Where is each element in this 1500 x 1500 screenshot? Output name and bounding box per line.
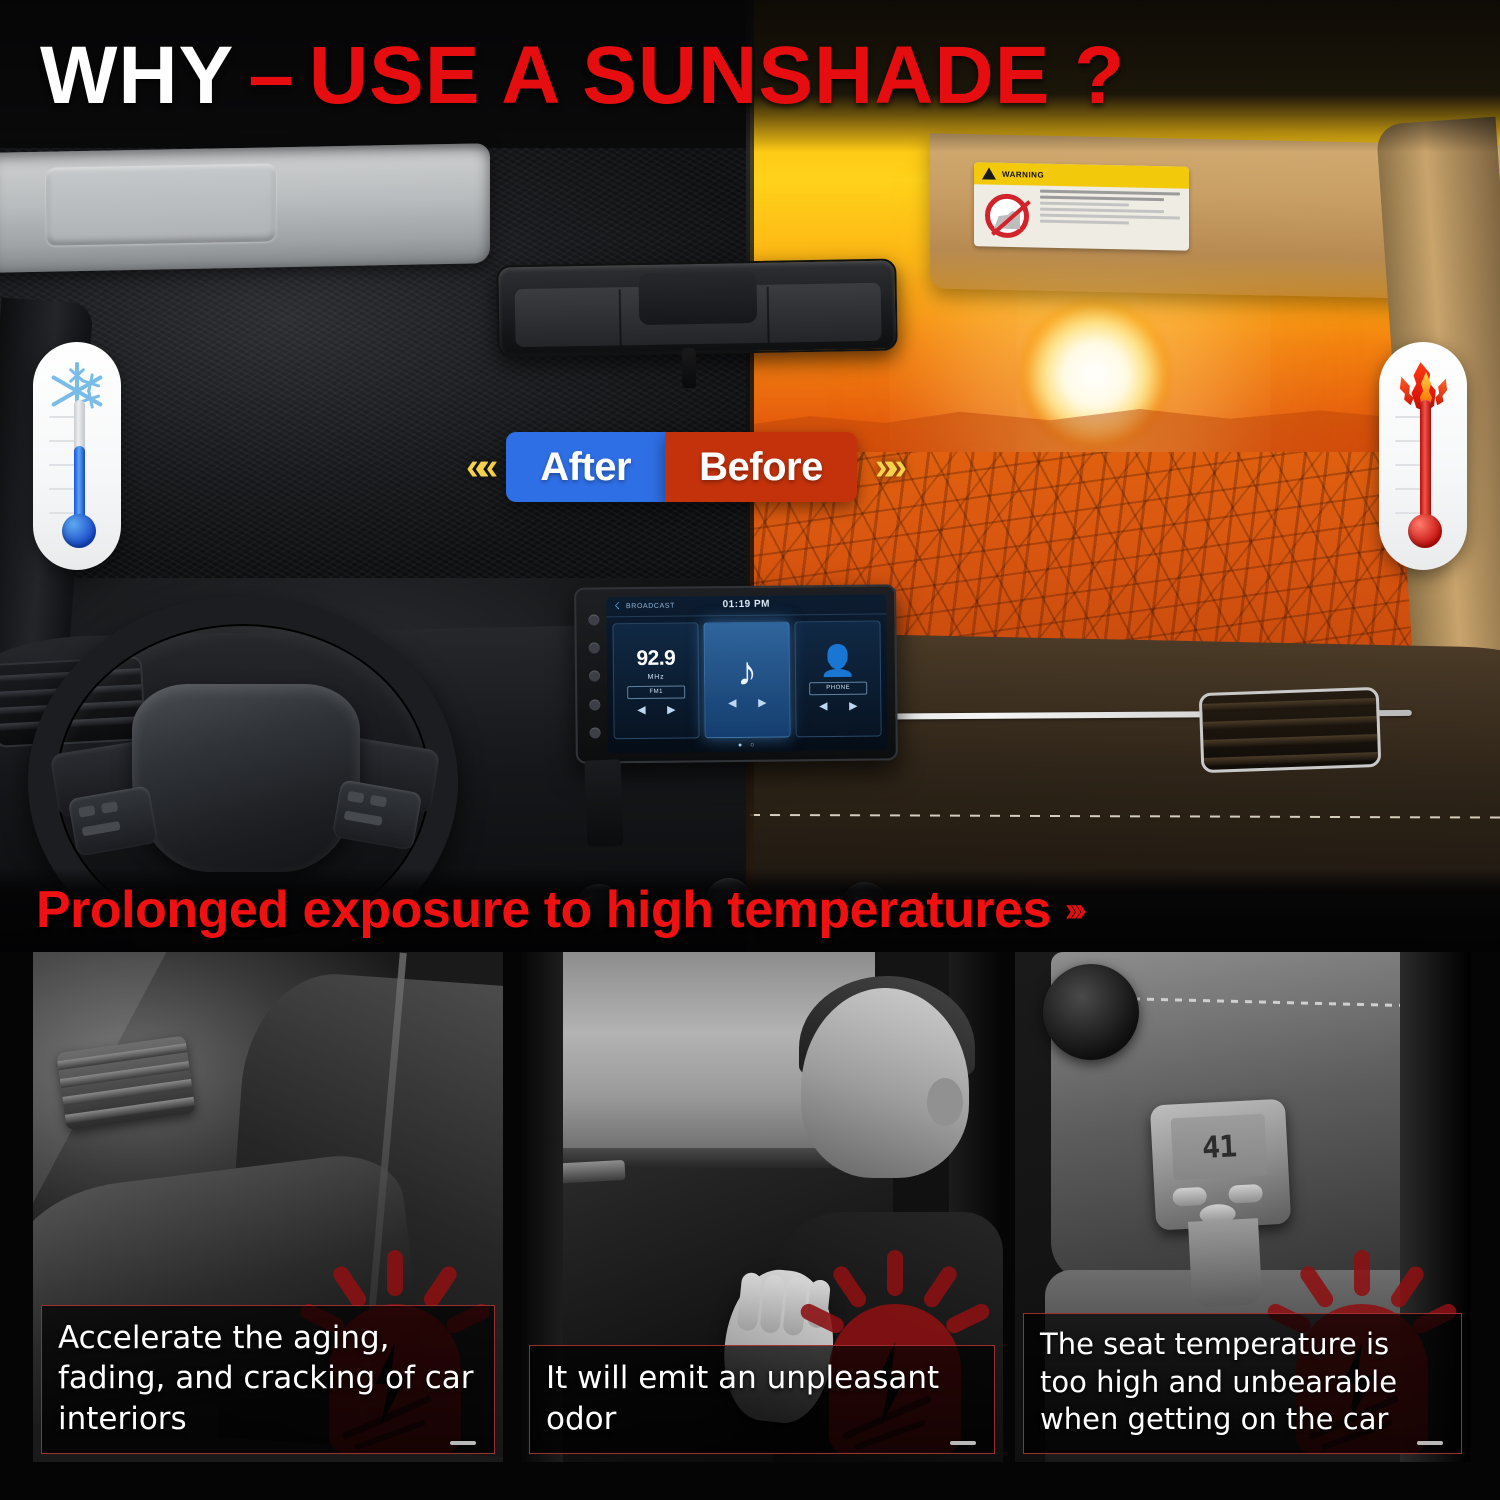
card-seat-temperature: 41 The seat temperature is [1015, 952, 1470, 1462]
after-badge[interactable]: After [506, 432, 665, 502]
visor-clip-icon [56, 173, 72, 237]
card-unpleasant-odor: It will emit an unpleasant odor [521, 952, 1003, 1462]
person-icon: 👤 [819, 646, 857, 676]
warning-label-body [974, 184, 1189, 251]
caption-underscore [1417, 1441, 1443, 1445]
media-tile[interactable]: ♪ ◀ ▶ [703, 621, 790, 738]
card-caption-text: The seat temperature is too high and unb… [1040, 1326, 1445, 1439]
card-caption: Accelerate the aging, fading, and cracki… [41, 1305, 495, 1454]
thermometer-gun-body: 41 [1150, 1099, 1291, 1231]
radio-arrows[interactable]: ◀ ▶ [638, 704, 676, 715]
head-unit-mounting-bracket [585, 759, 624, 846]
infrared-thermometer-gun: 41 [1150, 1099, 1295, 1306]
card-caption-text: Accelerate the aging, fading, and cracki… [58, 1318, 478, 1439]
thermometer-buttons[interactable] [1172, 1183, 1274, 1222]
radio-preset[interactable]: FM1 [627, 685, 685, 699]
rearview-mirror [496, 259, 898, 358]
power-button-icon[interactable] [588, 614, 599, 625]
warning-label-text-lines [1040, 186, 1189, 251]
prolonged-exposure-banner: Prolonged exposure to high temperatures … [0, 868, 1500, 952]
title-red-phrase: USE A SUNSHADE ? [309, 30, 1125, 121]
warning-pictogram [974, 184, 1040, 247]
caption-underscore [450, 1441, 476, 1445]
screen-tiles: 92.9 MHz FM1 ◀ ▶ ♪ ◀ ▶ [606, 614, 887, 745]
wristwatch [1043, 964, 1139, 1060]
airbag-hub [132, 684, 360, 872]
eject-button-icon[interactable] [589, 728, 600, 739]
page-title: WHY–USE A SUNSHADE ? [40, 35, 1125, 117]
title-dash: – [234, 30, 309, 121]
thermometer-reading: 41 [1201, 1129, 1237, 1166]
mirror-stem [682, 348, 697, 388]
air-vent-right [1199, 687, 1382, 773]
sun-visor-left [0, 143, 490, 273]
hot-thermometer [1379, 342, 1467, 570]
head-unit-side-buttons[interactable] [584, 605, 603, 747]
media-prev-icon[interactable]: ◀ [729, 697, 737, 708]
visor-warning-label: WARNING [974, 162, 1189, 251]
radio-tile[interactable]: 92.9 MHz FM1 ◀ ▶ [612, 622, 699, 739]
rear-headrest [638, 271, 757, 325]
media-next-icon[interactable]: ▶ [758, 697, 766, 708]
music-note-icon: ♪ [737, 651, 757, 691]
thermometer-grip [1188, 1218, 1262, 1308]
dashboard-stitching [750, 814, 1500, 819]
menu-button-icon[interactable] [589, 699, 600, 710]
radio-next-icon[interactable]: ▶ [667, 704, 675, 715]
sunshade-infographic-poster: WARNING [0, 0, 1500, 1500]
thermometer-lcd-display: 41 [1171, 1114, 1268, 1181]
thermometer-fill-hot [1420, 400, 1431, 524]
cold-thermometer [33, 342, 121, 570]
left-chevrons-icon: «« [466, 448, 496, 486]
title-white-word: WHY [40, 30, 234, 121]
warning-heading: WARNING [1002, 169, 1044, 179]
radio-prev-icon[interactable]: ◀ [638, 704, 646, 715]
no-child-seat-icon [985, 193, 1029, 238]
volume-button-icon[interactable] [588, 671, 599, 682]
warning-triangle-icon [982, 167, 996, 179]
before-badge[interactable]: Before [665, 432, 857, 502]
radio-frequency: 92.9 [636, 646, 675, 670]
radio-band: MHz [648, 673, 665, 680]
caption-underscore [950, 1441, 976, 1445]
right-chevrons-icon: »» [867, 448, 897, 486]
card-caption: The seat temperature is too high and unb… [1023, 1313, 1462, 1454]
thermometer-bulb-cold [62, 514, 96, 548]
media-arrows[interactable]: ◀ ▶ [729, 697, 767, 708]
home-button-icon[interactable] [588, 643, 599, 654]
card-caption-text: It will emit an unpleasant odor [546, 1358, 978, 1439]
man-ear [927, 1078, 963, 1126]
poster-title-bar: WHY–USE A SUNSHADE ? [0, 0, 1500, 152]
phone-label[interactable]: PHONE [809, 681, 867, 695]
banner-chevrons-icon: ››› [1065, 891, 1081, 930]
phone-prev-icon[interactable]: ◀ [820, 701, 828, 712]
before-after-badge-row: «« After Before »» [466, 432, 897, 502]
phone-tile[interactable]: 👤 PHONE ◀ ▶ [794, 620, 881, 737]
thermometer-bulb-hot [1408, 514, 1442, 548]
consequence-cards: Accelerate the aging, fading, and cracki… [0, 952, 1500, 1500]
banner-text: Prolonged exposure to high temperatures [36, 880, 1051, 940]
card-caption: It will emit an unpleasant odor [529, 1345, 995, 1454]
head-unit-screen[interactable]: ☇ BROADCAST 01:19 PM 92.9 MHz FM1 ◀ ▶ [606, 594, 888, 753]
phone-arrows[interactable]: ◀ ▶ [820, 700, 858, 711]
infotainment-head-unit[interactable]: ☇ BROADCAST 01:19 PM 92.9 MHz FM1 ◀ ▶ [574, 584, 898, 763]
phone-next-icon[interactable]: ▶ [849, 700, 857, 711]
dashboard-vent [56, 1035, 196, 1130]
thermometer-fill-cold [74, 446, 85, 524]
card-interior-aging: Accelerate the aging, fading, and cracki… [33, 952, 503, 1462]
